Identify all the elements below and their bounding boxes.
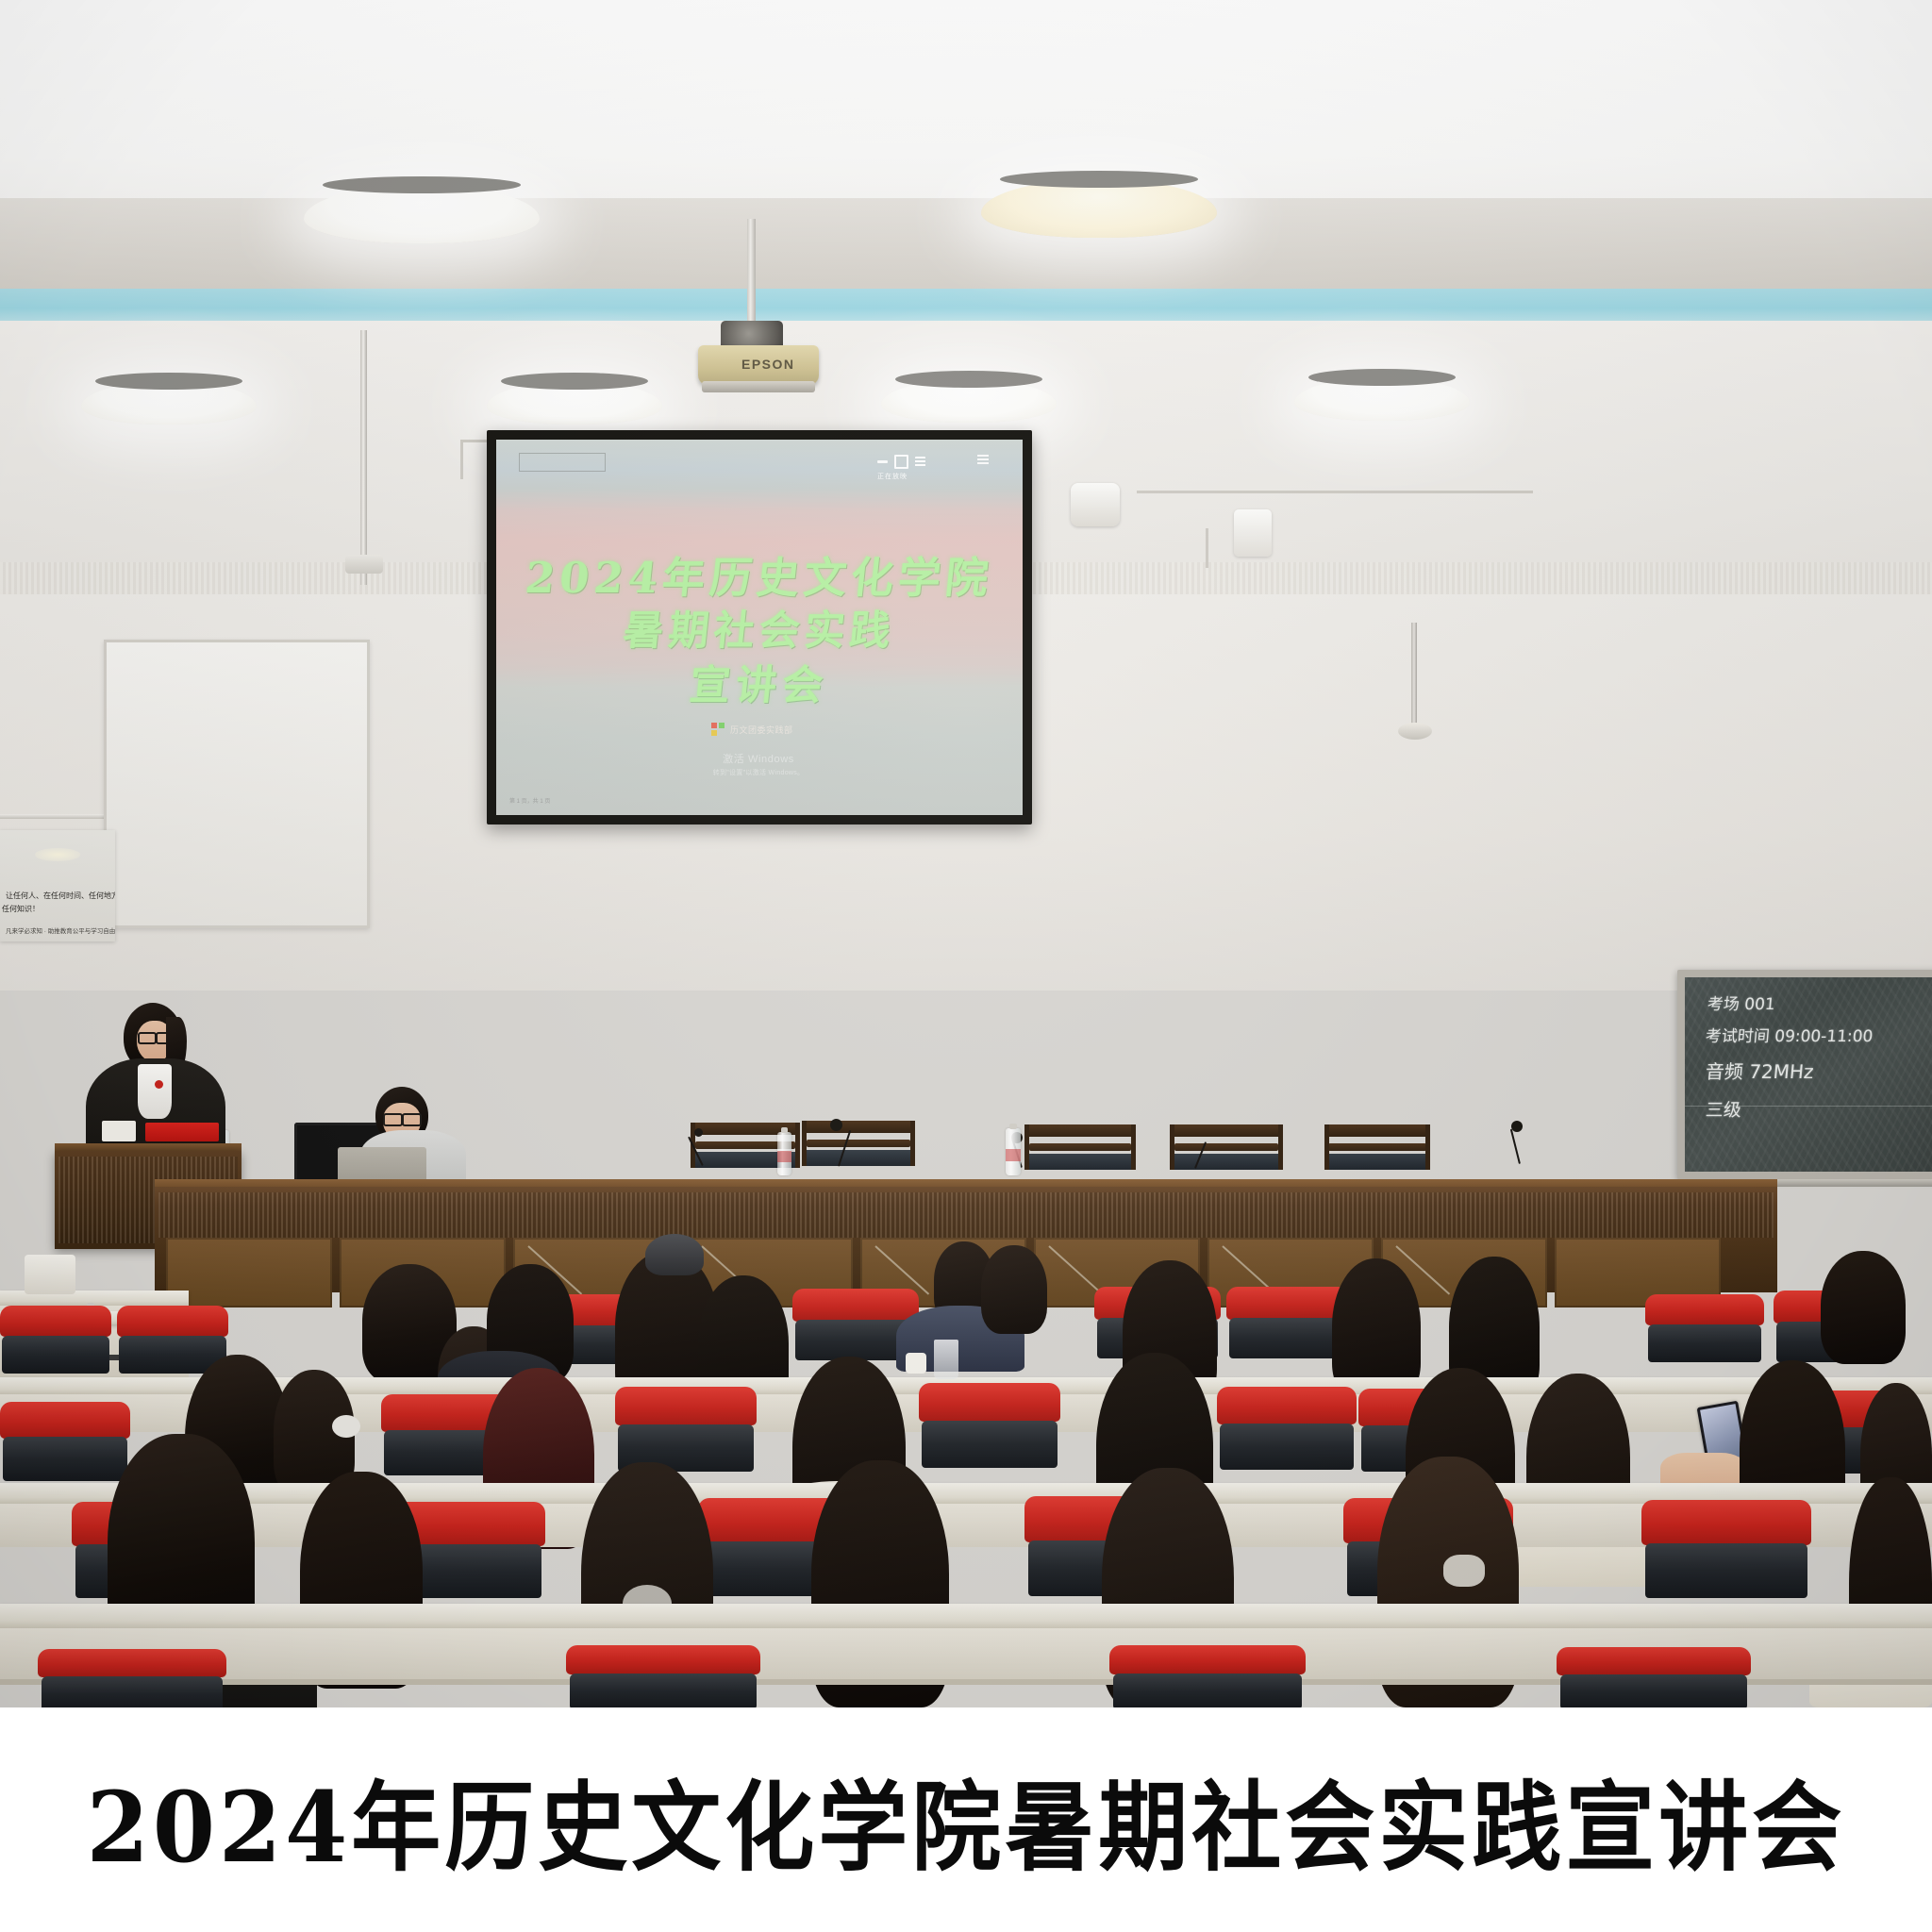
- hanging-device-head: [1398, 723, 1432, 740]
- stage-chair-4: [1170, 1124, 1283, 1181]
- blackboard-line-4: 三级: [1705, 1096, 1742, 1122]
- operator-glasses-right-icon: [402, 1113, 422, 1126]
- projector-lens: [702, 381, 815, 392]
- chair-a6: [1226, 1287, 1349, 1358]
- audience-cap-icon: [645, 1234, 704, 1275]
- ceiling-lamp-3: [81, 381, 257, 425]
- poster-line-2: 任何知识！: [2, 904, 40, 914]
- stage-chair-3: [1024, 1124, 1136, 1181]
- presenter-badge-icon: [155, 1080, 163, 1089]
- poster-line-3: 凡来学必求知 · 助推教育公平与学习自由: [6, 925, 115, 935]
- caption-title: 2024年历史文化学院暑期社会实践宣讲会: [87, 1750, 1845, 1890]
- wall-conduit-right: [1137, 491, 1533, 493]
- minimize-icon[interactable]: [877, 460, 888, 463]
- watermark-line-1: 激活 Windows: [626, 751, 891, 766]
- wifi-access-point: [1071, 483, 1120, 526]
- stage-chair-5: [1324, 1124, 1430, 1181]
- bench-row-c-top: [0, 1604, 1932, 1628]
- water-bottle-1: [777, 1132, 791, 1175]
- side-desk-bag: [25, 1255, 75, 1294]
- blackboard-chalk-smear: [1685, 1106, 1932, 1107]
- audience-head-a11: [1821, 1251, 1906, 1364]
- poster-line-1: 让任何人、在任何时间、任何地方都能学到: [6, 891, 115, 901]
- wall-sensor-box: [1234, 509, 1272, 557]
- ceiling-soffit: [0, 198, 1932, 289]
- menu-lines-icon[interactable]: [915, 457, 925, 467]
- department-logo-icon: [711, 723, 725, 737]
- caption-bar: 2024年历史文化学院暑期社会实践宣讲会: [0, 1707, 1932, 1932]
- pole-junction-box: [345, 555, 383, 574]
- audience-cup: [934, 1340, 958, 1379]
- red-folder-on-podium: [145, 1123, 219, 1141]
- audience-hairtie-c6-icon: [1443, 1555, 1485, 1587]
- audience-head-a7: [981, 1245, 1047, 1334]
- projection-screen[interactable]: 正在放映 2024年历史文化学院 暑期社会实践 宣讲会 历文团委实践部 激活 W…: [496, 440, 1023, 815]
- slide-title-line-3: 宣讲会: [496, 653, 1023, 711]
- ppt-status-label: 正在放映: [877, 472, 908, 481]
- conduit-drop: [460, 440, 463, 479]
- front-desk-slats: [158, 1192, 1774, 1238]
- blackboard: 考场 001 考试时间 09:00-11:00 音频 72MHz 三级: [1685, 977, 1932, 1172]
- chair-b4: [919, 1383, 1060, 1468]
- projector-body: EPSON: [698, 345, 819, 385]
- operator-glasses-left-icon: [383, 1113, 403, 1126]
- microphone-head-2: [830, 1119, 842, 1131]
- water-bottle-2: [1006, 1128, 1021, 1175]
- podium-papers: [102, 1121, 136, 1141]
- slide-department-block: 历文团委实践部: [711, 723, 793, 737]
- ppt-window-controls[interactable]: [877, 455, 925, 469]
- slide-header-outline: [519, 453, 606, 472]
- chair-a8: [1645, 1294, 1764, 1362]
- chair-d1: [38, 1649, 226, 1707]
- slide-title-line-2: 暑期社会实践: [496, 598, 1023, 657]
- audience-hairtie-icon: [332, 1415, 360, 1438]
- blackboard-line-3: 音频 72MHz: [1705, 1057, 1815, 1084]
- chair-d2: [566, 1645, 760, 1707]
- front-desk-panel-1: [166, 1238, 332, 1307]
- slideshow-icon[interactable]: [977, 455, 989, 465]
- slide-footer-label: 第 1 页，共 1 页: [509, 796, 550, 805]
- photo-page: EPSON 让任何人、在任何时间、任何地方都能学到 任何知识！ 凡来学必求知 ·…: [0, 0, 1932, 1932]
- scene-photo: EPSON 让任何人、在任何时间、任何地方都能学到 任何知识！ 凡来学必求知 ·…: [0, 0, 1932, 1707]
- stage-chair-2: [802, 1121, 915, 1177]
- microphone-head-5: [1511, 1121, 1523, 1132]
- ceiling-lamp-1: [304, 185, 540, 243]
- ceiling-lamp-5: [881, 379, 1057, 423]
- support-pole: [360, 330, 367, 585]
- restore-window-icon[interactable]: [894, 455, 908, 469]
- audience-tissue: [906, 1353, 926, 1374]
- blackboard-line-2: 考试时间 09:00-11:00: [1705, 1023, 1874, 1046]
- presenter-shirt-collar: [138, 1064, 172, 1119]
- poster-glare: [35, 848, 81, 861]
- presenter-glasses-left-icon: [138, 1032, 157, 1044]
- ceiling-lamp-6: [1294, 377, 1470, 421]
- chair-b1: [0, 1402, 130, 1481]
- hanging-device-rod: [1411, 623, 1417, 726]
- left-whiteboard: [104, 640, 370, 928]
- projector-pole: [747, 219, 756, 330]
- microphone-stem-5: [1510, 1129, 1521, 1164]
- chair-b3: [615, 1387, 757, 1472]
- chair-b5: [1217, 1387, 1357, 1470]
- wall-conduit-drop: [1206, 528, 1208, 568]
- wall-poster: 让任何人、在任何时间、任何地方都能学到 任何知识！ 凡来学必求知 · 助推教育公…: [0, 830, 115, 941]
- microphone-head-1: [694, 1128, 703, 1137]
- slide-department-label: 历文团委实践部: [730, 724, 793, 736]
- slide-title-line-1: 2024年历史文化学院: [496, 543, 1023, 605]
- blackboard-line-1: 考场 001: [1707, 991, 1776, 1014]
- windows-activation-watermark: 激活 Windows 转到"设置"以激活 Windows。: [626, 751, 891, 777]
- ceiling-lamp-4: [487, 381, 662, 425]
- chair-c6: [1641, 1500, 1811, 1598]
- projector-brand-label: EPSON: [741, 357, 795, 372]
- ceiling-lamp-2: [981, 179, 1217, 238]
- chair-a1: [0, 1306, 111, 1374]
- chair-d3: [1109, 1645, 1306, 1707]
- chair-d4: [1557, 1647, 1751, 1707]
- watermark-line-2: 转到"设置"以激活 Windows。: [626, 768, 891, 777]
